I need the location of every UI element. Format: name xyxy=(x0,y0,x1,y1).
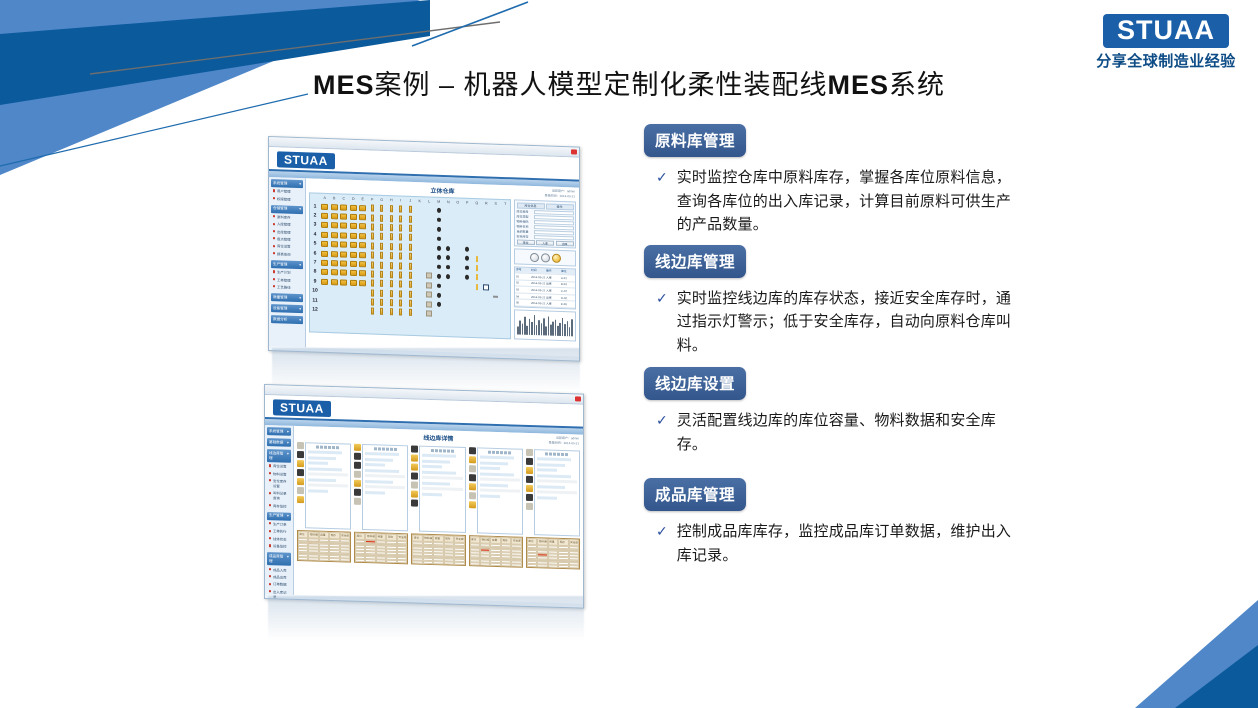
grid-cell[interactable] xyxy=(425,290,435,299)
grid-cell[interactable] xyxy=(339,222,349,231)
grid-cell[interactable] xyxy=(444,291,454,300)
grid-cell[interactable] xyxy=(320,268,330,277)
chevron-down-icon[interactable]: ▾ xyxy=(299,207,301,212)
chevron-down-icon[interactable]: ▾ xyxy=(287,429,289,434)
grid-cell[interactable] xyxy=(482,264,492,273)
grid-cell[interactable] xyxy=(463,226,473,235)
grid-cell[interactable] xyxy=(434,300,444,309)
grid-cell[interactable] xyxy=(444,206,454,215)
grid-cell[interactable] xyxy=(463,254,473,263)
grid-cell[interactable] xyxy=(339,297,349,306)
grid-cell[interactable] xyxy=(377,214,387,223)
grid-cell[interactable] xyxy=(320,249,330,258)
grid-cell[interactable] xyxy=(330,240,340,249)
grid-cell[interactable] xyxy=(368,213,378,222)
grid-cell[interactable] xyxy=(320,240,330,249)
grid-cell[interactable] xyxy=(377,270,387,279)
grid-cell[interactable] xyxy=(349,250,359,259)
grid-cell[interactable] xyxy=(425,215,435,224)
grid-cell[interactable] xyxy=(330,268,340,277)
grid-cell[interactable] xyxy=(320,259,330,268)
grid-cell[interactable] xyxy=(463,292,473,301)
grid-cell[interactable] xyxy=(491,311,501,320)
grid-cell[interactable] xyxy=(358,241,368,250)
grid-cell[interactable] xyxy=(387,280,397,289)
grid-cell[interactable] xyxy=(339,269,349,278)
grid-cell[interactable] xyxy=(396,289,406,298)
grid-cell[interactable] xyxy=(396,308,406,317)
grid-cell[interactable] xyxy=(491,227,501,236)
grid-cell[interactable] xyxy=(472,217,482,226)
grid-cell[interactable] xyxy=(425,206,435,215)
table-row[interactable] xyxy=(355,559,407,563)
grid-cell[interactable] xyxy=(501,293,511,302)
grid-cell[interactable] xyxy=(463,263,473,272)
grid-cell[interactable] xyxy=(339,231,349,240)
grid-cell[interactable] xyxy=(434,206,444,215)
grid-cell[interactable] xyxy=(330,306,340,315)
chevron-down-icon[interactable]: ▾ xyxy=(299,182,301,187)
grid-cell[interactable] xyxy=(377,279,387,288)
grid-cell[interactable] xyxy=(339,240,349,249)
chevron-down-icon[interactable]: ▾ xyxy=(287,555,289,565)
grid-cell[interactable] xyxy=(368,204,378,213)
grid-cell[interactable] xyxy=(368,241,378,250)
grid-cell[interactable] xyxy=(472,254,482,263)
grid-cell[interactable] xyxy=(320,221,330,230)
grid-cell[interactable] xyxy=(330,221,340,230)
grid-cell[interactable] xyxy=(472,264,482,273)
grid-cell[interactable] xyxy=(434,234,444,243)
grid-cell[interactable] xyxy=(358,213,368,222)
grid-cell[interactable] xyxy=(368,260,378,269)
grid-cell[interactable] xyxy=(406,299,416,308)
grid-cell[interactable] xyxy=(368,223,378,232)
grid-cell[interactable] xyxy=(377,242,387,251)
grid-cell[interactable] xyxy=(415,224,425,233)
section-badge[interactable]: 原料库管理 xyxy=(644,124,746,157)
grid-cell[interactable] xyxy=(444,263,454,272)
grid-cell[interactable] xyxy=(406,252,416,261)
grid-cell[interactable] xyxy=(358,307,368,316)
grid-cell[interactable] xyxy=(491,283,501,292)
grid-cell[interactable] xyxy=(453,216,463,225)
grid-cell[interactable] xyxy=(387,261,397,270)
grid-cell[interactable] xyxy=(358,297,368,306)
grid-cell[interactable] xyxy=(453,244,463,253)
grid-cell[interactable] xyxy=(501,237,511,246)
grid-cell[interactable] xyxy=(482,226,492,235)
grid-cell[interactable] xyxy=(463,273,473,282)
grid-cell[interactable] xyxy=(482,273,492,282)
station-inventory-table[interactable]: 库位物料编码容量现存安全库存 xyxy=(526,537,580,570)
grid-cell[interactable] xyxy=(453,272,463,281)
station-inventory-table[interactable]: 库位物料编码容量现存安全库存 xyxy=(469,535,523,568)
sidebar-item[interactable]: 设备监控 xyxy=(267,542,291,550)
grid-cell[interactable] xyxy=(387,298,397,307)
grid-cell[interactable] xyxy=(472,292,482,301)
grid-cell[interactable] xyxy=(320,296,330,305)
grid-cell[interactable] xyxy=(377,307,387,316)
grid-cell[interactable] xyxy=(358,232,368,241)
table-row[interactable]: 052014-05-21 15:30入库E-05 xyxy=(515,300,575,309)
grid-cell[interactable] xyxy=(406,261,416,270)
chevron-down-icon[interactable]: ▾ xyxy=(287,451,289,461)
grid-cell[interactable] xyxy=(406,233,416,242)
grid-cell[interactable] xyxy=(444,310,454,319)
grid-cell[interactable] xyxy=(377,232,387,241)
grid-cell[interactable] xyxy=(425,234,435,243)
grid-cell[interactable] xyxy=(415,281,425,290)
grid-cell[interactable] xyxy=(396,299,406,308)
grid-cell[interactable] xyxy=(491,255,501,264)
grid-cell[interactable] xyxy=(406,243,416,252)
grid-cell[interactable] xyxy=(320,287,330,296)
grid-cell[interactable] xyxy=(320,306,330,315)
grid-cell[interactable] xyxy=(444,253,454,262)
warehouse-grid[interactable]: A B C D E F G H I J K L xyxy=(309,192,511,339)
grid-cell[interactable] xyxy=(491,274,501,283)
grid-cell[interactable] xyxy=(425,271,435,280)
grid-cell[interactable] xyxy=(482,217,492,226)
grid-cell[interactable] xyxy=(330,231,340,240)
grid-cell[interactable] xyxy=(463,301,473,310)
grid-cell[interactable] xyxy=(396,252,406,261)
grid-rows[interactable]: 123456789101112 xyxy=(310,201,510,320)
grid-cell[interactable] xyxy=(472,311,482,320)
grid-cell[interactable] xyxy=(444,300,454,309)
grid-cell[interactable] xyxy=(387,233,397,242)
grid-cell[interactable] xyxy=(434,309,444,318)
grid-cell[interactable] xyxy=(501,246,511,255)
grid-cell[interactable] xyxy=(330,203,340,212)
station-column[interactable]: 库位物料编码容量现存安全库存 xyxy=(354,444,408,565)
grid-cell[interactable] xyxy=(425,300,435,309)
grid-cell[interactable] xyxy=(425,281,435,290)
grid-cell[interactable] xyxy=(368,288,378,297)
grid-cell[interactable] xyxy=(339,287,349,296)
sidebar-item[interactable]: 叫料记录查询 xyxy=(267,489,291,502)
table-row[interactable] xyxy=(470,562,522,566)
grid-cell[interactable] xyxy=(425,309,435,318)
grid-cell[interactable] xyxy=(339,212,349,221)
grid-cell[interactable] xyxy=(349,231,359,240)
grid-cell[interactable] xyxy=(349,260,359,269)
station-column[interactable]: 库位物料编码容量现存安全库存 xyxy=(297,442,351,563)
grid-cell[interactable] xyxy=(434,215,444,224)
grid-cell[interactable] xyxy=(453,310,463,319)
section-badge[interactable]: 线边库设置 xyxy=(644,367,746,400)
grid-cell[interactable] xyxy=(358,260,368,269)
shot1-sidebar[interactable]: 系统管理▾ 用户管理 权限管理 仓储管理▾ 原料库存 入库管理 出库管理 盘点管… xyxy=(269,177,306,347)
grid-cell[interactable] xyxy=(444,235,454,244)
grid-cell[interactable] xyxy=(463,207,473,216)
grid-cell[interactable] xyxy=(453,254,463,263)
grid-cell[interactable] xyxy=(482,302,492,311)
operation-log-table[interactable]: 序号 时间 操作 库位 012014-05-21 09:12入库A-010220… xyxy=(514,266,576,310)
grid-cell[interactable] xyxy=(491,264,501,273)
grid-cell[interactable] xyxy=(453,235,463,244)
chevron-down-icon[interactable]: ▾ xyxy=(299,318,301,323)
station-column[interactable]: 库位物料编码容量现存安全库存 xyxy=(469,447,523,568)
panel-tab[interactable]: 库位信息 xyxy=(517,202,545,209)
grid-cell[interactable] xyxy=(396,280,406,289)
grid-cell[interactable] xyxy=(482,311,492,320)
grid-cell[interactable] xyxy=(434,262,444,271)
grid-cell[interactable] xyxy=(330,249,340,258)
grid-cell[interactable] xyxy=(349,297,359,306)
grid-cell[interactable] xyxy=(377,251,387,260)
station-inventory-table[interactable]: 库位物料编码容量现存安全库存 xyxy=(411,533,465,566)
grid-cell[interactable] xyxy=(377,298,387,307)
grid-cell[interactable] xyxy=(472,236,482,245)
grid-cell[interactable] xyxy=(415,262,425,271)
sidebar-item[interactable]: 权限管理 xyxy=(271,194,303,202)
grid-row-number: 9 xyxy=(310,278,320,284)
grid-cell[interactable] xyxy=(501,283,511,292)
station-column[interactable]: 库位物料编码容量现存安全库存 xyxy=(526,449,580,570)
grid-cell[interactable] xyxy=(415,271,425,280)
grid-cell[interactable] xyxy=(491,246,501,255)
station-sheet xyxy=(362,444,408,531)
grid-cell[interactable] xyxy=(406,215,416,224)
grid-cell[interactable] xyxy=(453,263,463,272)
grid-cell[interactable] xyxy=(501,255,511,264)
grid-cell[interactable] xyxy=(444,216,454,225)
grid-cell[interactable] xyxy=(320,230,330,239)
grid-cell[interactable] xyxy=(330,287,340,296)
grid-cell[interactable] xyxy=(396,224,406,233)
close-icon[interactable] xyxy=(575,396,581,401)
grid-cell[interactable] xyxy=(377,260,387,269)
grid-cell[interactable] xyxy=(453,291,463,300)
section-badge[interactable]: 线边库管理 xyxy=(644,245,746,278)
sidebar-item[interactable]: 安全库存设置 xyxy=(267,477,291,490)
grid-cell[interactable] xyxy=(339,306,349,315)
grid-cell[interactable] xyxy=(434,244,444,253)
section-badge[interactable]: 成品库管理 xyxy=(644,478,746,511)
chevron-down-icon[interactable]: ▾ xyxy=(299,263,301,268)
grid-cell[interactable] xyxy=(406,271,416,280)
grid-cell[interactable] xyxy=(330,212,340,221)
grid-cell[interactable] xyxy=(463,216,473,225)
grid-cell[interactable] xyxy=(387,214,397,223)
grid-cell[interactable] xyxy=(501,302,511,311)
grid-cell[interactable] xyxy=(501,274,511,283)
grid-cell[interactable] xyxy=(349,278,359,287)
grid-cell[interactable] xyxy=(406,290,416,299)
grid-cell[interactable] xyxy=(358,203,368,212)
grid-cell[interactable] xyxy=(320,212,330,221)
grid-cell[interactable] xyxy=(415,309,425,318)
grid-cell[interactable] xyxy=(444,244,454,253)
grid-cell[interactable] xyxy=(472,207,482,216)
table-row[interactable] xyxy=(412,561,464,565)
grid-cell[interactable] xyxy=(320,202,330,211)
panel-tab[interactable]: 操作 xyxy=(546,203,574,210)
grid-cell[interactable] xyxy=(349,222,359,231)
grid-cell[interactable] xyxy=(349,269,359,278)
grid-cell[interactable] xyxy=(368,307,378,316)
grid-cell[interactable] xyxy=(425,225,435,234)
screenshot-line-side-warehouse[interactable]: STUAA 系统管理▾ 基础数据▾ 线边库管理▾ 库位设置 物料设置 安全库存设… xyxy=(264,384,584,599)
grid-cell[interactable] xyxy=(453,226,463,235)
grid-cell[interactable] xyxy=(406,280,416,289)
grid-cell[interactable] xyxy=(415,299,425,308)
grid-cell[interactable] xyxy=(434,281,444,290)
grid-cell[interactable] xyxy=(491,293,501,302)
grid-cell[interactable] xyxy=(368,270,378,279)
grid-cell[interactable] xyxy=(368,298,378,307)
grid-cell[interactable] xyxy=(482,283,492,292)
grid-cell[interactable] xyxy=(377,289,387,298)
grid-cell[interactable] xyxy=(463,245,473,254)
grid-cell[interactable] xyxy=(501,208,511,217)
grid-cell[interactable] xyxy=(349,213,359,222)
station-inventory-table[interactable]: 库位物料编码容量现存安全库存 xyxy=(354,532,408,565)
grid-cell[interactable] xyxy=(358,269,368,278)
grid-cell[interactable] xyxy=(396,233,406,242)
grid-cell[interactable] xyxy=(406,224,416,233)
grid-cell[interactable] xyxy=(434,291,444,300)
grid-cell[interactable] xyxy=(501,312,511,321)
station-inventory-table[interactable]: 库位物料编码容量现存安全库存 xyxy=(297,530,351,563)
grid-cell[interactable] xyxy=(444,282,454,291)
chevron-down-icon[interactable]: ▾ xyxy=(299,296,301,301)
shot2-sidebar[interactable]: 系统管理▾ 基础数据▾ 线边库管理▾ 库位设置 物料设置 安全库存设置 叫料记录… xyxy=(265,425,294,595)
grid-cell[interactable] xyxy=(358,222,368,231)
grid-cell[interactable] xyxy=(368,279,378,288)
grid-cell[interactable] xyxy=(482,208,492,217)
grid-cell[interactable] xyxy=(349,306,359,315)
grid-cell[interactable] xyxy=(491,208,501,217)
grid-cell[interactable] xyxy=(472,226,482,235)
grid-cell[interactable] xyxy=(453,282,463,291)
grid-cell[interactable] xyxy=(415,252,425,261)
grid-cell[interactable] xyxy=(472,282,482,291)
grid-cell[interactable] xyxy=(491,236,501,245)
grid-cell[interactable] xyxy=(349,241,359,250)
grid-cell[interactable] xyxy=(425,253,435,262)
grid-cell[interactable] xyxy=(396,205,406,214)
grid-cell[interactable] xyxy=(387,308,397,317)
grid-cell[interactable] xyxy=(415,290,425,299)
grid-cell[interactable] xyxy=(358,279,368,288)
grid-cell[interactable] xyxy=(387,251,397,260)
grid-cell[interactable] xyxy=(415,243,425,252)
panel-button[interactable]: 查询 xyxy=(517,239,535,245)
chevron-down-icon[interactable]: ▾ xyxy=(287,514,289,519)
grid-cell[interactable] xyxy=(463,282,473,291)
grid-cell[interactable] xyxy=(453,301,463,310)
grid-cell[interactable] xyxy=(387,289,397,298)
grid-cell[interactable] xyxy=(387,204,397,213)
grid-cell[interactable] xyxy=(444,225,454,234)
material-bar-icon xyxy=(390,262,393,269)
screenshot-raw-material-warehouse[interactable]: STUAA 系统管理▾ 用户管理 权限管理 仓储管理▾ 原料库存 入库管理 出库… xyxy=(268,136,580,351)
grid-cell[interactable] xyxy=(425,243,435,252)
chevron-down-icon[interactable]: ▾ xyxy=(299,307,301,312)
slot-detail-panel[interactable]: 库位信息 操作 库位编号 库位类型 物料编码 物料名称 当前数量 安全库存 xyxy=(514,199,576,248)
grid-cell[interactable] xyxy=(387,242,397,251)
grid-cell[interactable] xyxy=(472,273,482,282)
grid-cell[interactable] xyxy=(339,203,349,212)
table-row[interactable] xyxy=(527,564,579,568)
grid-cell[interactable] xyxy=(339,259,349,268)
material-bar-icon xyxy=(399,309,402,316)
grid-cell[interactable] xyxy=(472,245,482,254)
grid-cell[interactable] xyxy=(491,302,501,311)
grid-cell[interactable] xyxy=(396,271,406,280)
sidebar-item[interactable]: 报表查询 xyxy=(271,250,303,258)
grid-cell[interactable] xyxy=(320,277,330,286)
grid-cell[interactable] xyxy=(415,215,425,224)
station-column[interactable]: 库位物料编码容量现存安全库存 xyxy=(411,445,465,566)
grid-cell[interactable] xyxy=(453,207,463,216)
grid-cell[interactable] xyxy=(406,205,416,214)
grid-cell[interactable] xyxy=(463,310,473,319)
grid-cell[interactable] xyxy=(434,253,444,262)
grid-cell[interactable] xyxy=(491,217,501,226)
grid-cell[interactable] xyxy=(396,242,406,251)
grid-cell[interactable] xyxy=(349,288,359,297)
grid-cell[interactable] xyxy=(368,251,378,260)
grid-cell[interactable] xyxy=(330,296,340,305)
chevron-down-icon[interactable]: ▾ xyxy=(287,440,289,445)
grid-cell[interactable] xyxy=(444,272,454,281)
grid-cell[interactable] xyxy=(387,270,397,279)
grid-cell[interactable] xyxy=(396,214,406,223)
grid-cell[interactable] xyxy=(501,218,511,227)
grid-cell[interactable] xyxy=(434,225,444,234)
sidebar-item[interactable]: 库存监控 xyxy=(267,502,291,510)
panel-button[interactable]: 出库 xyxy=(556,240,574,246)
grid-cell[interactable] xyxy=(482,236,492,245)
grid-cell[interactable] xyxy=(387,223,397,232)
grid-cell[interactable] xyxy=(415,205,425,214)
grid-cell[interactable] xyxy=(349,203,359,212)
grid-cell[interactable] xyxy=(339,250,349,259)
close-icon[interactable] xyxy=(571,149,577,154)
grid-cell[interactable] xyxy=(425,262,435,271)
panel-button[interactable]: 入库 xyxy=(536,240,554,246)
grid-cell[interactable] xyxy=(396,261,406,270)
grid-cell[interactable] xyxy=(501,265,511,274)
station-columns[interactable]: 库位物料编码容量现存安全库存库位物料编码容量现存安全库存库位物料编码容量现存安全… xyxy=(297,440,580,570)
grid-cell[interactable] xyxy=(472,301,482,310)
grid-cell[interactable] xyxy=(415,234,425,243)
grid-cell[interactable] xyxy=(482,245,492,254)
grid-cell[interactable] xyxy=(330,259,340,268)
grid-cell[interactable] xyxy=(501,227,511,236)
grid-cell[interactable] xyxy=(377,223,387,232)
grid-cell[interactable] xyxy=(358,288,368,297)
grid-cell[interactable] xyxy=(377,204,387,213)
grid-cell[interactable] xyxy=(358,250,368,259)
grid-cell[interactable] xyxy=(434,272,444,281)
shot1-right-panels[interactable]: 库位信息 操作 库位编号 库位类型 物料编码 物料名称 当前数量 安全库存 xyxy=(514,199,576,341)
grid-cell[interactable] xyxy=(368,232,378,241)
grid-cell[interactable] xyxy=(482,255,492,264)
table-row[interactable] xyxy=(298,557,350,561)
grid-cell[interactable] xyxy=(406,308,416,317)
grid-cell[interactable] xyxy=(482,292,492,301)
grid-cell[interactable] xyxy=(463,235,473,244)
sidebar-item[interactable]: 工艺路线 xyxy=(271,283,303,291)
grid-cell[interactable] xyxy=(339,278,349,287)
material-bar-icon xyxy=(380,308,383,315)
grid-cell[interactable] xyxy=(330,278,340,287)
